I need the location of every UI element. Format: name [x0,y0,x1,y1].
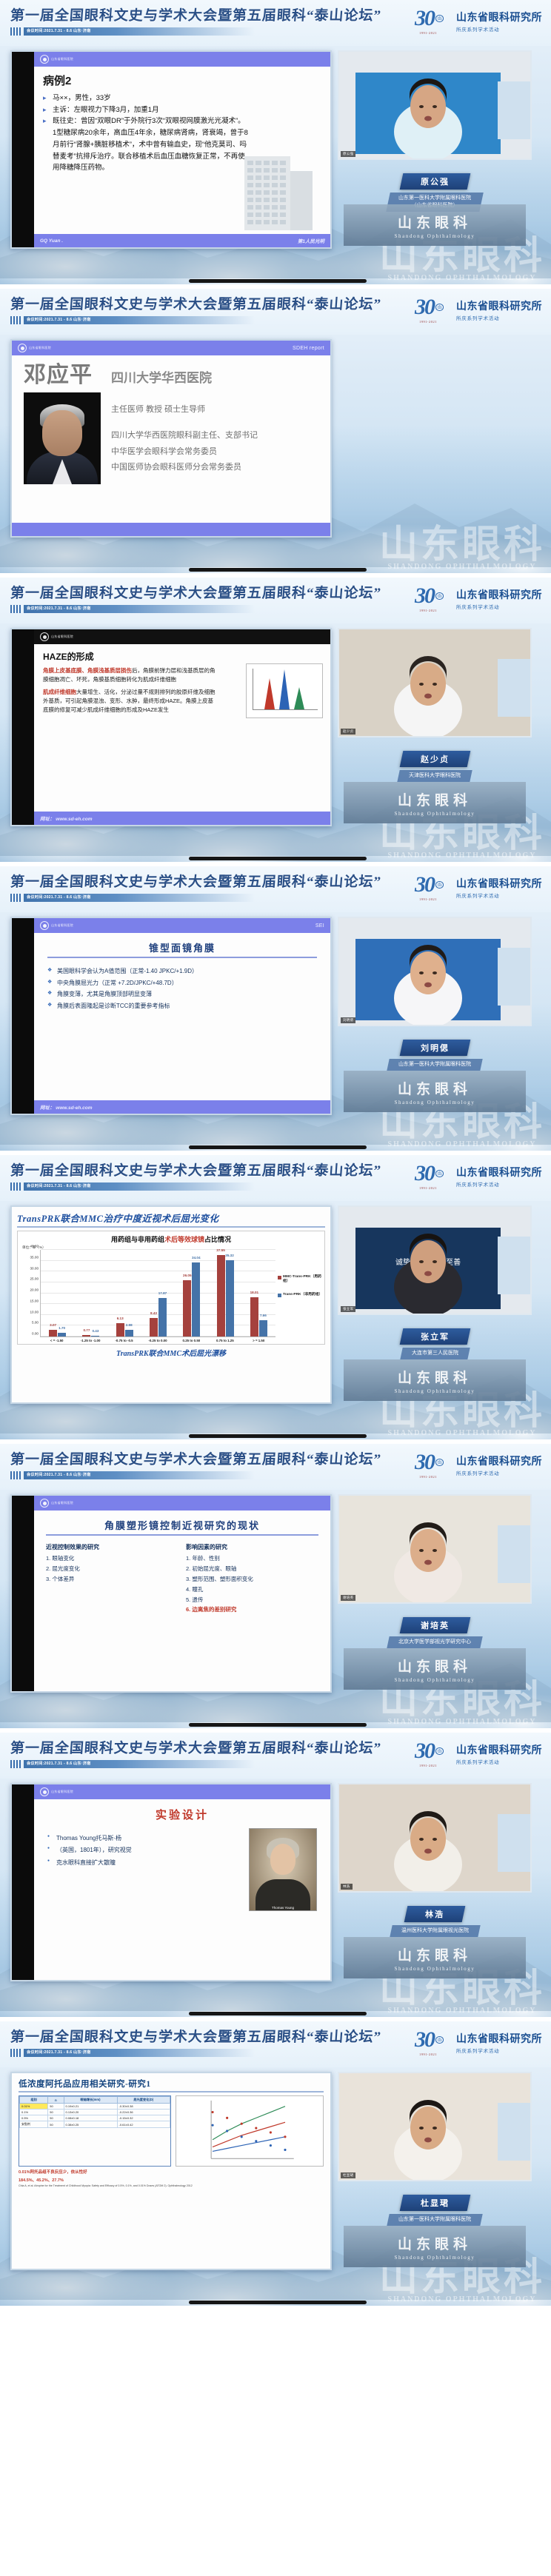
bullet-item: （英国，1801年），研究视觉 [47,1844,241,1856]
speaker-nameplate: 谢培英北京大学医学部视光学研究中心山东眼科Shandong Ophthalmol… [338,1607,532,1690]
conference-subtitle: 会议时间:2021.7.31 - 8.6 山东·济南 [24,1760,255,1768]
institute-stone-sign: 山东眼科Shandong Ophthalmology [344,204,526,246]
bullet-item: 既往史：曾因“双眼DR”于外院行3次“双眼视网膜激光光凝术”。 [43,116,321,127]
anniversary-years: 1991-2021 [419,1475,437,1479]
bullet-list: 马××，男性，33岁主诉：左眼视力下降3月，加重1月既往史：曾因“双眼DR”于外… [43,93,321,174]
table-row: 0.01%500.19±0.21-0.30±0.38 [20,2104,170,2110]
column-right: 影响因素的研究1. 年龄、性别2. 初始屈光度、眼轴3. 塑形范围、塑形面积变化… [186,1543,318,1615]
slide-title: 病例2 [43,73,321,88]
conference-subtitle: 会议时间:2021.7.31 - 8.6 山东·济南 [24,1471,255,1479]
bar: 26.05 [183,1280,191,1336]
anniversary-years: 1991-2021 [419,31,437,35]
conference-header: 第一届全国眼科文史与学术大会暨第五届眼科“泰山论坛”会议时间:2021.7.31… [0,1155,551,1201]
bullet-item: 角膜后表面隆起是诊断TCC的重要参考指标 [47,1000,317,1012]
bar: 1.70 [58,1333,66,1336]
institute-name: 山东省眼科研究所 [456,1742,542,1757]
presentation-slide[interactable]: 山东省眼科医院SEI锥型面镜角膜美国眼科学会认为A值范围（正常-1.40 JPK… [10,917,332,1115]
bullet-list: Thomas Young托马斯·杨（英国，1801年），研究视觉克水眼科直接扩大… [47,1833,241,1869]
camera-column: 杜显珺杜显珺山东第一医科大学附属眼科医院山东眼科Shandong Ophthal… [338,2072,532,2270]
speaker-video-feed [339,1784,532,1893]
bar: 8.43 [150,1318,158,1336]
paragraph: 角膜上皮基底膜、角膜浅基质层损伤后，角膜前弹力层和浅基质层的角膜细胞凋亡、坏死，… [43,666,216,684]
slide-top-bar: 山东省眼科医院 [34,52,330,67]
legend-swatch [278,1294,281,1297]
player-scrollbar[interactable] [189,1723,367,1727]
content-row: Thomas Young托马斯·杨（英国，1801年），研究视觉克水眼科直接扩大… [47,1828,317,1911]
anniversary-30-icon: 30th1991-2021 [413,6,452,36]
slide-logo: 山东省眼科医院 [40,632,73,641]
player-scrollbar[interactable] [189,279,367,283]
profile-wrap: 邓应平四川大学华西医院主任医师 教授 硕士生导师四川大学华西医院眼科副主任、支部… [24,363,318,484]
anniversary-number: 30 [415,1450,434,1475]
bars-icon [10,27,21,36]
institute-logo-block: 30th1991-2021山东省眼科研究所所庆系列学术活动 [413,1450,542,1479]
slide-title: HAZE的形成 [43,650,321,663]
speaker-name: 刘明偲 [421,1042,450,1054]
bar-value-label: 26.05 [183,1274,192,1277]
eye-icon [40,921,49,930]
watermark-subtext: SHANDONG OPHTHALMOLOGY [379,563,545,570]
list-item: 1. 眼轴变化 [46,1553,178,1564]
speaker-camera[interactable]: 谢培英 [338,1494,532,1604]
bullet-item: 替麦考”抗排斥治疗。联合移植术后血压血糖恢复正常，不再使 [43,152,321,163]
institute-name-block: 山东省眼科研究所所庆系列学术活动 [456,10,542,33]
conference-subtitle-wrap: 会议时间:2021.7.31 - 8.6 山东·济南 [10,316,255,324]
speaker-name: 张立军 [421,1331,450,1342]
player-scrollbar[interactable] [189,1145,367,1149]
bullet-item: 中央角膜屈光力（正常 +7.2D/JPKC/+48.7D） [47,977,317,989]
x-tick-label: 0.75 to 1.25 [208,1337,241,1342]
table-row: 0.1%500.13±0.20-0.22±0.36 [20,2110,170,2115]
y-tick-label: 20.00 [30,1288,39,1292]
table-cell: 50 [48,2104,64,2110]
player-scrollbar[interactable] [189,857,367,860]
presentation-slide[interactable]: 山东省眼科医院实验设计Thomas Young托马斯·杨（英国，1801年），研… [10,1783,332,1981]
bar: 17.87 [158,1298,167,1336]
table-cell: 0.19±0.21 [64,2104,117,2110]
conference-subtitle: 会议时间:2021.7.31 - 8.6 山东·济南 [24,316,255,324]
nameplate-wrap: 林浩温州医科大学附属眼视光医院山东眼科Shandong Ophthalmolog… [338,1896,532,1978]
anniversary-number: 30 [415,583,434,609]
chart: 用药组与非用药组术后等效球镜占比情况单位：率（%）0.005.0010.0015… [17,1231,325,1345]
column-heading: 近视控制效果的研究 [46,1543,178,1551]
slide-logo: 山东省眼科医院 [40,1499,73,1508]
slide-logo-text: 山东省眼科医院 [29,346,51,350]
institute-stone-sign: 山东眼科Shandong Ophthalmology [344,782,526,823]
slide-top-bar: 山东省眼科医院 [34,1496,330,1511]
speaker-name-large: 邓应平 [24,364,101,387]
anniversary-th: th [435,592,444,600]
slide-content: 实验设计Thomas Young托马斯·杨（英国，1801年），研究视觉克水眼科… [34,1799,330,1980]
anniversary-number: 30 [415,872,434,897]
anniversary-th: th [435,1459,444,1466]
panel-body: 山东省眼科医院病例2马××，男性，33岁主诉：左眼视力下降3月，加重1月既往史：… [0,46,551,249]
speaker-org: 大连市第三人民医院 [400,1348,470,1359]
slide-inner: 山东省眼科医院实验设计Thomas Young托马斯·杨（英国，1801年），研… [34,1784,330,1980]
institute-subtitle: 所庆系列学术活动 [456,603,542,610]
bar-group: 6.132.98 [108,1250,141,1336]
table-cell: 0.01% [20,2104,48,2110]
slide-bar-right-label: SDEH report [293,346,324,351]
column-left: 近视控制效果的研究1. 眼轴变化2. 屈光度变化3. 个体差异 [46,1543,178,1615]
bar-value-label: 8.43 [150,1311,157,1315]
eye-icon [40,632,49,641]
table-cell: 0.13±0.20 [64,2110,117,2115]
institute-name: 山东省眼科研究所 [456,1453,542,1468]
legend-label: Trans-PRK（非用药组） [283,1293,321,1297]
slide-logo: 山东省眼科医院 [40,1787,73,1796]
table-header-cell: n [48,2097,64,2104]
camera-column [338,339,532,538]
bar: 2.98 [125,1330,133,1336]
player-scrollbar[interactable] [189,568,367,572]
slide-title: 低浓度阿托品应用相关研究-研究1 [19,2078,324,2092]
x-tick-label: > = 1.50 [242,1337,275,1342]
y-tick-label: 5.00 [32,1321,39,1325]
speaker-name-bar: 张立军 [399,1328,470,1345]
speaker-camera[interactable]: 赵少贞 [338,628,532,737]
slide-title: 锥型面镜角膜 [47,940,317,958]
panel-study: 山东眼科SHANDONG OPHTHALMOLOGY第一届全国眼科文史与学术大会… [0,2021,551,2310]
institute-name: 山东省眼科研究所 [456,298,542,313]
panel-haze: 山东眼科SHANDONG OPHTHALMOLOGY第一届全国眼科文史与学术大会… [0,578,551,866]
eye-icon [40,1499,49,1508]
bullet-column: Thomas Young托马斯·杨（英国，1801年），研究视觉克水眼科直接扩大… [47,1828,241,1869]
anniversary-th: th [435,1170,444,1177]
slide-logo-text: 山东省眼科医院 [51,1501,73,1505]
list-item: 5. 遗传 [186,1595,318,1605]
bars-icon [10,605,21,613]
portrait-caption: Thomas Young [250,1906,316,1910]
slide-logo: 山东省眼科医院 [18,344,51,352]
conference-header: 第一届全国眼科文史与学术大会暨第五届眼科“泰山论坛”会议时间:2021.7.31… [0,0,551,46]
speaker-camera[interactable]: 原公强 [338,50,532,160]
table-cell: -0.61±0.42 [117,2121,170,2128]
table-cell: 50 [48,2121,64,2128]
speaker-video-feed [339,52,532,160]
slide-content: HAZE的形成角膜上皮基底膜、角膜浅基质层损伤后，角膜前弹力层和浅基质层的角膜细… [34,644,330,812]
x-tick-label: -0.75 to -0.5 [107,1337,141,1342]
presentation-slide[interactable]: 山东省眼科医院病例2马××，男性，33岁主诉：左眼视力下降3月，加重1月既往史：… [10,50,332,249]
slide-title: TransPRK联合MMC治疗中度近视术后屈光变化 [17,1211,325,1228]
slide-logo: 山东省眼科医院 [40,921,73,930]
table-cell: -0.30±0.38 [117,2104,170,2110]
presentation-slide[interactable]: TransPRK联合MMC治疗中度近视术后屈光变化用药组与非用药组术后等效球镜占… [10,1205,332,1404]
nameplate-wrap: 谢培英北京大学医学部视光学研究中心山东眼科Shandong Ophthalmol… [338,1607,532,1690]
presentation-slide[interactable]: 山东省眼科医院HAZE的形成角膜上皮基底膜、角膜浅基质层损伤后，角膜前弹力层和浅… [10,628,332,826]
institute-stone-sign: 山东眼科Shandong Ophthalmology [344,1648,526,1690]
speaker-org: 山东第一医科大学附属眼科医院 [387,1059,482,1071]
speaker-name-bar: 杜显珺 [399,2195,470,2211]
watermark-subtext: SHANDONG OPHTHALMOLOGY [379,1719,545,1725]
slide-logo-text: 山东省眼科医院 [51,635,73,639]
speaker-video-feed [339,629,532,737]
speaker-org: 北京大学医学部视光学研究中心 [387,1636,482,1648]
player-scrollbar[interactable] [189,2012,367,2015]
bars-icon [10,1760,21,1768]
bar: 37.55 [217,1255,225,1336]
speaker-nameplate: 赵少贞天津医科大学眼科医院山东眼科Shandong Ophthalmology [338,740,532,823]
institute-name: 山东省眼科研究所 [456,1165,542,1180]
slide-footer-right: 第1人民光明 [298,237,324,244]
panel-body: 山东省眼科医院SDEH report邓应平四川大学华西医院主任医师 教授 硕士生… [0,335,551,538]
panel-sei: 山东眼科SHANDONG OPHTHALMOLOGY第一届全国眼科文史与学术大会… [0,866,551,1155]
anniversary-years: 1991-2021 [419,1764,437,1767]
institute-subtitle: 所庆系列学术活动 [456,1180,542,1188]
table-header-cell: 组别 [20,2097,48,2104]
conference-subtitle-wrap: 会议时间:2021.7.31 - 8.6 山东·济南 [10,894,255,902]
speaker-name: 谢培英 [421,1619,450,1631]
slide-footer: GQ Yuan .第1人民光明 [34,234,330,247]
institute-name-block: 山东省眼科研究所所庆系列学术活动 [456,2031,542,2054]
conference-subtitle: 会议时间:2021.7.31 - 8.6 山东·济南 [24,27,255,36]
anniversary-number: 30 [415,295,434,320]
slide-content: 角膜塑形镜控制近视研究的现状近视控制效果的研究1. 眼轴变化2. 屈光度变化3.… [34,1511,330,1691]
conference-subtitle: 会议时间:2021.7.31 - 8.6 山东·济南 [24,1182,255,1191]
speaker-portrait [24,392,101,484]
x-tick-label: < = -1.50 [40,1337,73,1342]
slide-content: TransPRK联合MMC治疗中度近视术后屈光变化用药组与非用药组术后等效球镜占… [12,1207,330,1402]
eye-icon [18,344,27,352]
anniversary-th: th [435,304,444,311]
slide-content: 锥型面镜角膜美国眼科学会认为A值范围（正常-1.40 JPKC/+1.9D）中央… [34,933,330,1100]
anniversary-th: th [435,15,444,22]
bullet-item: 用降糖降压药物。 [43,163,321,174]
bullet-list: 美国眼科学会认为A值范围（正常-1.40 JPKC/+1.9D）中央角膜屈光力（… [47,966,317,1011]
table-row: 安慰剂500.38±0.25-0.61±0.42 [20,2121,170,2128]
speaker-video-feed [339,1496,532,1604]
anniversary-30-icon: 30th1991-2021 [413,583,452,613]
player-scrollbar[interactable] [189,2301,367,2304]
plot: 3.071.700.770.436.132.988.4317.8726.0534… [40,1250,275,1337]
slide-footer-left: 网址： www.sd-eh.com [40,1103,93,1111]
slide-inner: 山东省眼科医院角膜塑形镜控制近视研究的现状近视控制效果的研究1. 眼轴变化2. … [34,1496,330,1691]
speaker-camera[interactable]: 杜显珺 [338,2072,532,2181]
bar-value-label: 7.66 [260,1314,267,1317]
bars-icon [10,1471,21,1479]
y-tick-label: 10.00 [30,1310,39,1314]
conference-subtitle-wrap: 会议时间:2021.7.31 - 8.6 山东·济南 [10,605,255,613]
anniversary-number: 30 [415,1739,434,1764]
x-tick-label: 0.25 to 0.50 [175,1337,208,1342]
watermark-subtext: SHANDONG OPHTHALMOLOGY [379,2296,545,2303]
speaker-camera[interactable]: 刘明偲 [338,917,532,1026]
bar-value-label: 1.70 [59,1326,65,1330]
presentation-slide[interactable]: 山东省眼科医院角膜塑形镜控制近视研究的现状近视控制效果的研究1. 眼轴变化2. … [10,1494,332,1693]
list: 1. 眼轴变化2. 屈光度变化3. 个体差异 [46,1553,178,1585]
table-cell: -0.22±0.36 [117,2110,170,2115]
institute-stone-sign: 山东眼科Shandong Ophthalmology [344,1937,526,1978]
anniversary-th: th [435,881,444,889]
nameplate-wrap: 刘明偲山东第一医科大学附属眼科医院山东眼科Shandong Ophthalmol… [338,1029,532,1112]
institute-name-block: 山东省眼科研究所所庆系列学术活动 [456,1453,542,1476]
bullet-item: 美国眼科学会认为A值范围（正常-1.40 JPKC/+1.9D） [47,966,317,977]
table-row: 0.5%500.08±0.18-0.15±0.32 [20,2115,170,2121]
institute-name-block: 山东省眼科研究所所庆系列学术活动 [456,1165,542,1188]
institute-name-block: 山东省眼科研究所所庆系列学术活动 [456,587,542,610]
table-header-cell: 屈光度变化(D) [117,2097,170,2104]
institute-name-block: 山东省眼科研究所所庆系列学术活动 [456,298,542,321]
bar-value-label: 0.43 [92,1329,98,1333]
camera-column: 诚挚 感谢 精诚 至善张立军张立军大连市第三人民医院山东眼科Shandong O… [338,1205,532,1404]
bar-group: 37.5535.32 [208,1250,241,1336]
anniversary-30-icon: 30th1991-2021 [413,295,452,324]
bar-value-label: 6.13 [117,1317,124,1320]
bar-value-label: 34.04 [192,1256,201,1259]
slide-content: 低浓度阿托品应用相关研究-研究1组别n眼轴增长(mm)屈光度变化(D)0.01%… [12,2073,330,2269]
slide-inner: 山东省眼科医院SDEH report邓应平四川大学华西医院主任医师 教授 硕士生… [12,341,330,536]
conference-header: 第一届全国眼科文史与学术大会暨第五届眼科“泰山论坛”会议时间:2021.7.31… [0,578,551,623]
legend-label: MMC-Trans-PRK（用药组） [283,1275,321,1284]
bar-value-label: 37.55 [216,1248,225,1252]
y-tick-label: 40.00 [30,1245,39,1248]
table-cell: 安慰剂 [20,2121,48,2128]
speaker-name: 杜显珺 [421,2197,450,2209]
y-tick-label: 0.00 [32,1332,39,1336]
speaker-nameplate: 林浩温州医科大学附属眼视光医院山东眼科Shandong Ophthalmolog… [338,1896,532,1978]
table-cell: 50 [48,2115,64,2121]
speaker-camera[interactable]: 诚挚 感谢 精诚 至善张立军 [338,1205,532,1315]
results-table: 组别n眼轴增长(mm)屈光度变化(D)0.01%500.19±0.21-0.30… [19,2095,171,2167]
bar-group: 18.017.66 [242,1250,275,1336]
list-item: 2. 初始屈光度、眼轴 [186,1564,318,1574]
institute-name-block: 山东省眼科研究所所庆系列学术活动 [456,1742,542,1765]
conference-subtitle-wrap: 会议时间:2021.7.31 - 8.6 山东·济南 [10,1760,255,1768]
slide-footer-left: 网址： www.sd-eh.com [40,814,93,822]
camera-column: 谢培英谢培英北京大学医学部视光学研究中心山东眼科Shandong Ophthal… [338,1494,532,1693]
institute-logo-block: 30th1991-2021山东省眼科研究所所庆系列学术活动 [413,295,542,324]
player-scrollbar[interactable] [189,1434,367,1438]
historical-portrait: Thomas Young [249,1828,317,1911]
anniversary-years: 1991-2021 [419,320,437,324]
profile-line: 中华医学会眼科学会常务委员 [111,444,318,460]
conference-subtitle-wrap: 会议时间:2021.7.31 - 8.6 山东·济南 [10,2049,255,2057]
camera-label: 原公强 [341,151,355,157]
plot-area: 0.005.0010.0015.0020.0025.0030.0035.0040… [21,1250,321,1337]
list-item: 3. 个体差异 [46,1574,178,1585]
speaker-org: 天津医科大学眼科医院 [397,770,472,782]
content-row: 组别n眼轴增长(mm)屈光度变化(D)0.01%500.19±0.21-0.30… [19,2095,324,2167]
bars-icon [10,2049,21,2057]
institute-subtitle: 所庆系列学术活动 [456,1758,542,1765]
bar-value-label: 35.32 [225,1254,234,1257]
conference-subtitle-wrap: 会议时间:2021.7.31 - 8.6 山东·济南 [10,1182,255,1191]
bar: 6.13 [116,1323,124,1336]
presentation-slide[interactable]: 低浓度阿托品应用相关研究-研究1组别n眼轴增长(mm)屈光度变化(D)0.01%… [10,2072,332,2270]
two-column-layout: 近视控制效果的研究1. 眼轴变化2. 屈光度变化3. 个体差异影响因素的研究1.… [46,1543,318,1615]
speaker-hospital: 四川大学华西医院 [111,367,318,386]
slide-bar-right-label: SEI [315,923,324,929]
slide-top-bar: 山东省眼科医院SDEH report [12,341,330,355]
anniversary-th: th [435,2036,444,2044]
bar-value-label: 17.87 [158,1291,167,1295]
slide-content: 邓应平四川大学华西医院主任医师 教授 硕士生导师四川大学华西医院眼科副主任、支部… [12,355,330,523]
slide-top-bar: 山东省眼科医院SEI [34,918,330,933]
bars-icon [10,316,21,324]
slide-inner: 低浓度阿托品应用相关研究-研究1组别n眼轴增长(mm)屈光度变化(D)0.01%… [12,2073,330,2269]
camera-label: 谢培英 [341,1595,355,1601]
institute-logo-block: 30th1991-2021山东省眼科研究所所庆系列学术活动 [413,6,542,36]
speaker-nameplate: 张立军大连市第三人民医院山东眼科Shandong Ophthalmology [338,1318,532,1401]
conference-header: 第一届全国眼科文史与学术大会暨第五届眼科“泰山论坛”会议时间:2021.7.31… [0,2021,551,2067]
slide-title: 角膜塑形镜控制近视研究的现状 [46,1518,318,1536]
table-header-cell: 眼轴增长(mm) [64,2097,117,2104]
anniversary-number: 30 [415,6,434,31]
speaker-name: 林浩 [425,1908,444,1920]
slide-logo-text: 山东省眼科医院 [51,923,73,928]
speaker-nameplate: 刘明偲山东第一医科大学附属眼科医院山东眼科Shandong Ophthalmol… [338,1029,532,1112]
list: 1. 年龄、性别2. 初始屈光度、眼轴3. 塑形范围、塑形面积变化4. 瞳孔5.… [186,1553,318,1615]
profile-line: 四川大学华西医院眼科副主任、支部书记 [111,428,318,444]
study-note: 0.01%阿托品组不良反应少，依从性好 [19,2169,324,2175]
bullet-item: 马××，男性，33岁 [43,93,321,104]
table-header-row: 组别n眼轴增长(mm)屈光度变化(D) [20,2097,170,2104]
speaker-org: 山东第一医科大学附属眼科医院 [387,2214,482,2226]
camera-column: 赵少贞赵少贞天津医科大学眼科医院山东眼科Shandong Ophthalmolo… [338,628,532,826]
x-tick-label: -0.25 to 0.00 [141,1337,174,1342]
table-cell: 50 [48,2110,64,2115]
bar-value-label: 18.01 [250,1291,259,1294]
speaker-video-feed [339,2073,532,2181]
list-item: 2. 屈光度变化 [46,1564,178,1574]
conference-header: 第一届全国眼科文史与学术大会暨第五届眼科“泰山论坛”会议时间:2021.7.31… [0,866,551,912]
eye-icon [40,55,49,64]
list-item-highlight: 6. 边离焦的差别研究 [186,1605,318,1615]
bar-group: 8.4317.87 [141,1250,175,1336]
bars-icon [10,894,21,902]
anniversary-30-icon: 30th1991-2021 [413,1450,452,1479]
bar-value-label: 2.98 [126,1323,133,1327]
speaker-camera[interactable]: 林浩 [338,1783,532,1893]
anniversary-number: 30 [415,1161,434,1186]
institute-name: 山东省眼科研究所 [456,587,542,602]
camera-column: 原公强原公强山东第一医科大学附属眼科医院（山东省眼科医院）山东眼科Shandon… [338,50,532,249]
slide-logo: 山东省眼科医院 [40,55,73,64]
bar: 7.66 [259,1320,267,1336]
bar: 18.01 [250,1297,258,1336]
nameplate-wrap: 赵少贞天津医科大学眼科医院山东眼科Shandong Ophthalmology [338,740,532,823]
camera-label: 张立军 [341,1306,355,1312]
slide-footer: 网址： www.sd-eh.com [34,812,330,825]
slide-inner: 山东省眼科医院HAZE的形成角膜上皮基底膜、角膜浅基质层损伤后，角膜前弹力层和浅… [34,629,330,825]
presentation-slide[interactable]: 山东省眼科医院SDEH report邓应平四川大学华西医院主任医师 教授 硕士生… [10,339,332,538]
bar: 0.77 [82,1335,90,1336]
list-item: 3. 塑形范围、塑形面积变化 [186,1574,318,1585]
bar: 3.07 [49,1330,57,1336]
chart-title: 用药组与非用药组术后等效球镜占比情况 [21,1234,321,1244]
conference-subtitle-wrap: 会议时间:2021.7.31 - 8.6 山东·济南 [10,1471,255,1479]
x-axis: < = -1.50-1.25 to -1.00-0.75 to -0.5-0.2… [40,1337,275,1342]
panel-chart: 山东眼科SHANDONG OPHTHALMOLOGY第一届全国眼科文史与学术大会… [0,1155,551,1444]
bullet-item: 克水眼科直接扩大散瞳 [47,1857,241,1869]
camera-label: 林浩 [341,1884,353,1890]
legend-swatch [278,1276,281,1279]
eye-icon [40,1787,49,1796]
speaker-nameplate: 原公强山东第一医科大学附属眼科医院（山东省眼科医院）山东眼科Shandong O… [338,163,532,246]
slide-title: 实验设计 [47,1807,317,1822]
anniversary-number: 30 [415,2027,434,2053]
conference-header: 第一届全国眼科文史与学术大会暨第五届眼科“泰山论坛”会议时间:2021.7.31… [0,1444,551,1490]
bar-group: 26.0534.04 [175,1250,208,1336]
watermark-subtext: SHANDONG OPHTHALMOLOGY [379,852,545,859]
anniversary-years: 1991-2021 [419,609,437,612]
bar: 34.04 [192,1262,200,1336]
slide-inner: TransPRK联合MMC治疗中度近视术后屈光变化用药组与非用药组术后等效球镜占… [12,1207,330,1402]
speaker-org: 温州医科大学附属眼视光医院 [390,1925,480,1937]
profile-line: 中国医师协会眼科医师分会常务委员 [111,460,318,475]
conference-header: 第一届全国眼科文史与学术大会暨第五届眼科“泰山论坛”会议时间:2021.7.31… [0,289,551,335]
column-heading: 影响因素的研究 [186,1543,318,1551]
